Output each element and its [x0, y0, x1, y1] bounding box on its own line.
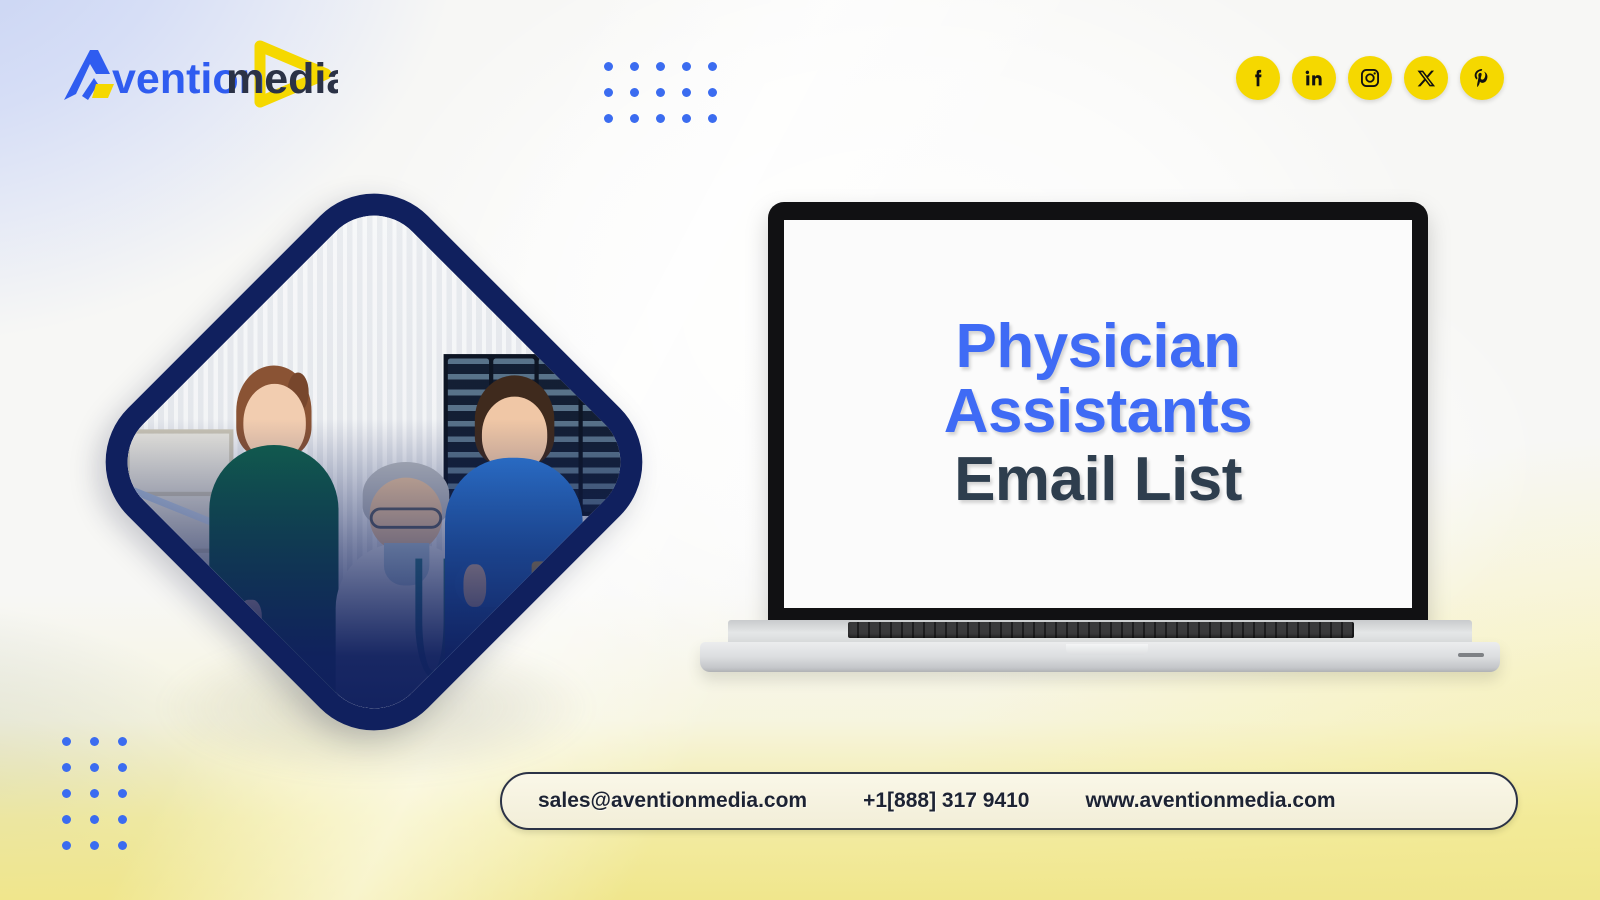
- decorative-dot: [90, 815, 99, 824]
- headline-line-1: Physician: [956, 315, 1241, 379]
- marketing-banner: vention media: [0, 0, 1600, 900]
- social-links: [1236, 56, 1504, 100]
- decorative-dot: [62, 815, 71, 824]
- hero-photo-frame: [76, 162, 672, 762]
- laptop-trackpad-notch: [1066, 644, 1148, 655]
- decorative-dot: [682, 88, 691, 97]
- decorative-dot: [708, 114, 717, 123]
- contact-website[interactable]: www.aventionmedia.com: [1085, 789, 1335, 813]
- decorative-dot: [656, 62, 665, 71]
- facebook-icon: [1247, 67, 1269, 89]
- contact-email[interactable]: sales@aventionmedia.com: [538, 789, 807, 813]
- decorative-dot: [656, 88, 665, 97]
- decorative-dot: [682, 62, 691, 71]
- linkedin-icon: [1303, 67, 1325, 89]
- decorative-dot: [62, 737, 71, 746]
- contact-bar: sales@aventionmedia.com +1[888] 317 9410…: [500, 772, 1518, 830]
- decorative-dot: [604, 62, 613, 71]
- decorative-dot: [604, 114, 613, 123]
- decorative-dot: [62, 763, 71, 772]
- decorative-dot: [682, 114, 691, 123]
- headline-line-3: Email List: [954, 448, 1242, 512]
- social-link-pinterest[interactable]: [1460, 56, 1504, 100]
- decorative-dot: [708, 62, 717, 71]
- logo-word-media: media: [226, 55, 338, 103]
- decorative-dot: [118, 815, 127, 824]
- decorative-dot: [90, 763, 99, 772]
- laptop-keyboard: [848, 622, 1354, 638]
- decorative-dot: [630, 114, 639, 123]
- social-link-instagram[interactable]: [1348, 56, 1392, 100]
- social-link-linkedin[interactable]: [1292, 56, 1336, 100]
- decorative-dot: [708, 88, 717, 97]
- contact-phone[interactable]: +1[888] 317 9410: [863, 789, 1029, 813]
- decorative-dot: [656, 114, 665, 123]
- social-link-facebook[interactable]: [1236, 56, 1280, 100]
- laptop-screen: Physician Assistants Email List: [784, 220, 1412, 608]
- social-link-x-twitter[interactable]: [1404, 56, 1448, 100]
- headline-line-2: Assistants: [944, 380, 1253, 444]
- instagram-icon: [1359, 67, 1381, 89]
- decorative-dot: [118, 763, 127, 772]
- decorative-dot: [90, 841, 99, 850]
- decorative-dot: [62, 841, 71, 850]
- decorative-dot: [118, 789, 127, 798]
- decorative-dot: [90, 789, 99, 798]
- dot-grid-top: [604, 62, 734, 140]
- decorative-dot: [604, 88, 613, 97]
- pinterest-icon: [1471, 67, 1493, 89]
- decorative-dot: [630, 88, 639, 97]
- decorative-dot: [62, 789, 71, 798]
- laptop-lid: Physician Assistants Email List: [768, 202, 1428, 630]
- laptop-side-vent: [1458, 653, 1484, 657]
- x-twitter-icon: [1416, 68, 1437, 89]
- avention-media-logo[interactable]: vention media: [38, 38, 338, 110]
- decorative-dot: [118, 841, 127, 850]
- decorative-dot: [630, 62, 639, 71]
- laptop-mockup: Physician Assistants Email List: [694, 202, 1506, 680]
